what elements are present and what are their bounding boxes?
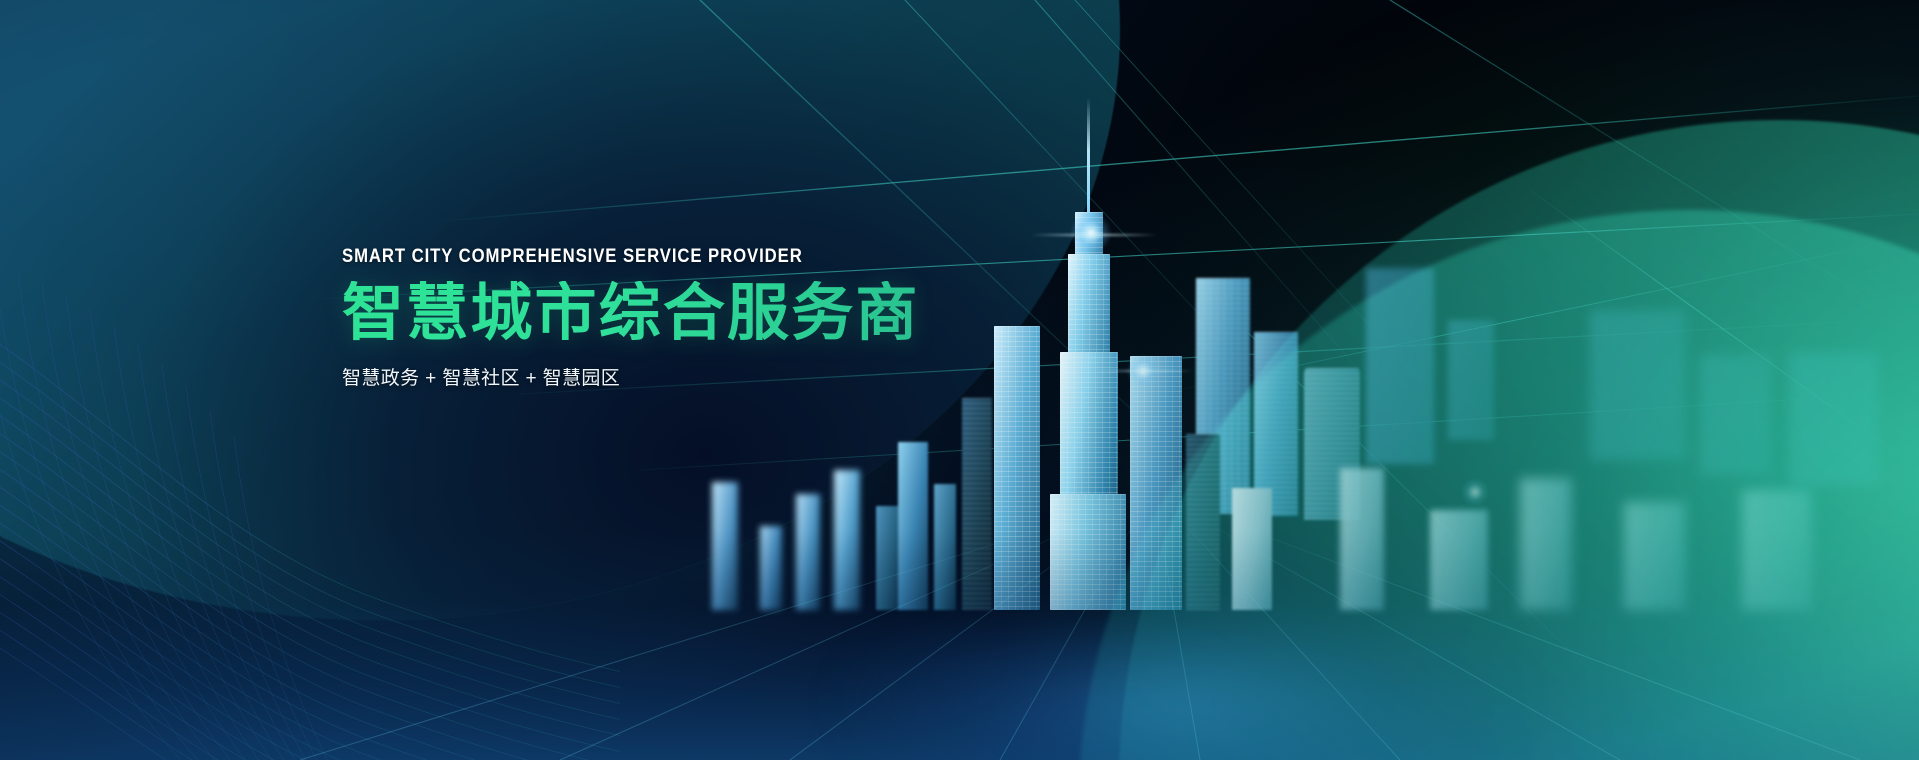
hero-eyebrow: SMART CITY COMPREHENSIVE SERVICE PROVIDE… <box>342 247 1011 268</box>
hero-subline: 智慧政务 + 智慧社区 + 智慧园区 <box>342 363 1102 390</box>
smart-city-hero-banner: SMART CITY COMPREHENSIVE SERVICE PROVIDE… <box>0 0 1919 760</box>
lens-flare-streak-mid <box>1094 370 1194 372</box>
hero-text-block: SMART CITY COMPREHENSIVE SERVICE PROVIDE… <box>342 247 1102 390</box>
hero-headline: 智慧城市综合服务商 <box>342 281 1102 347</box>
lens-flare-streak-crown <box>1030 234 1158 236</box>
